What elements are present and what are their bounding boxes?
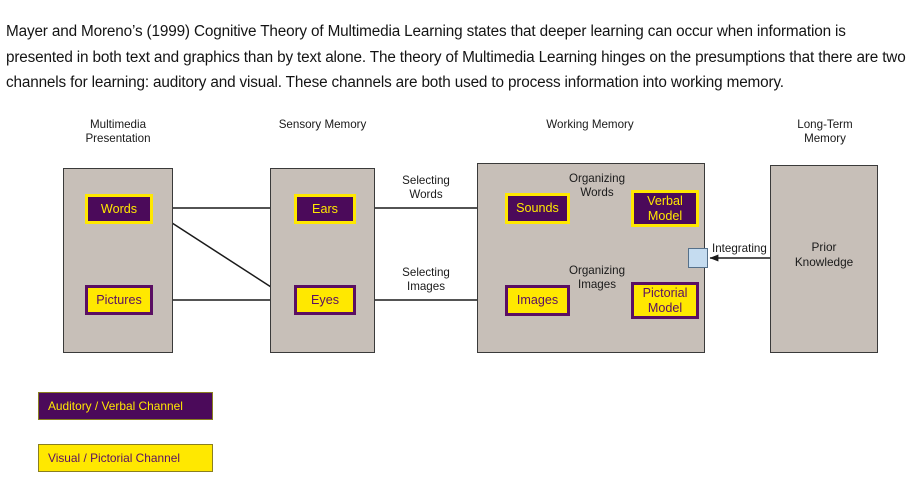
box-pictorial-model[interactable]: Pictorial Model	[631, 282, 699, 319]
edge-label-selecting-words: Selecting Words	[378, 174, 474, 201]
edge-label-selecting-images: Selecting Images	[378, 266, 474, 293]
panel-title-working-memory: Working Memory	[505, 118, 675, 132]
edge-label-organizing-images: Organizing Images	[557, 264, 637, 291]
legend-item-auditory-verbal-channel: Auditory / Verbal Channel	[38, 392, 213, 420]
box-eyes[interactable]: Eyes	[294, 285, 356, 315]
box-verbal-model[interactable]: Verbal Model	[631, 190, 699, 227]
multimedia-learning-diagram: Multimedia Presentation Sensory Memory W…	[0, 110, 920, 390]
legend-item-visual-pictorial-channel: Visual / Pictorial Channel	[38, 444, 213, 472]
box-ears[interactable]: Ears	[294, 194, 356, 224]
panel-title-sensory-memory: Sensory Memory	[265, 118, 380, 132]
edge-label-organizing-words: Organizing Words	[557, 172, 637, 199]
legend: Auditory / Verbal Channel Visual / Picto…	[0, 392, 920, 492]
label-prior-knowledge: Prior Knowledge	[770, 240, 878, 269]
box-words[interactable]: Words	[85, 194, 153, 224]
intro-paragraph: Mayer and Moreno’s (1999) Cognitive Theo…	[6, 19, 914, 95]
box-pictures[interactable]: Pictures	[85, 285, 153, 315]
panel-title-multimedia-presentation: Multimedia Presentation	[63, 118, 173, 146]
integrating-node[interactable]	[688, 248, 708, 268]
panel-title-long-term-memory: Long-Term Memory	[770, 118, 880, 146]
edge-label-integrating: Integrating	[712, 242, 778, 256]
